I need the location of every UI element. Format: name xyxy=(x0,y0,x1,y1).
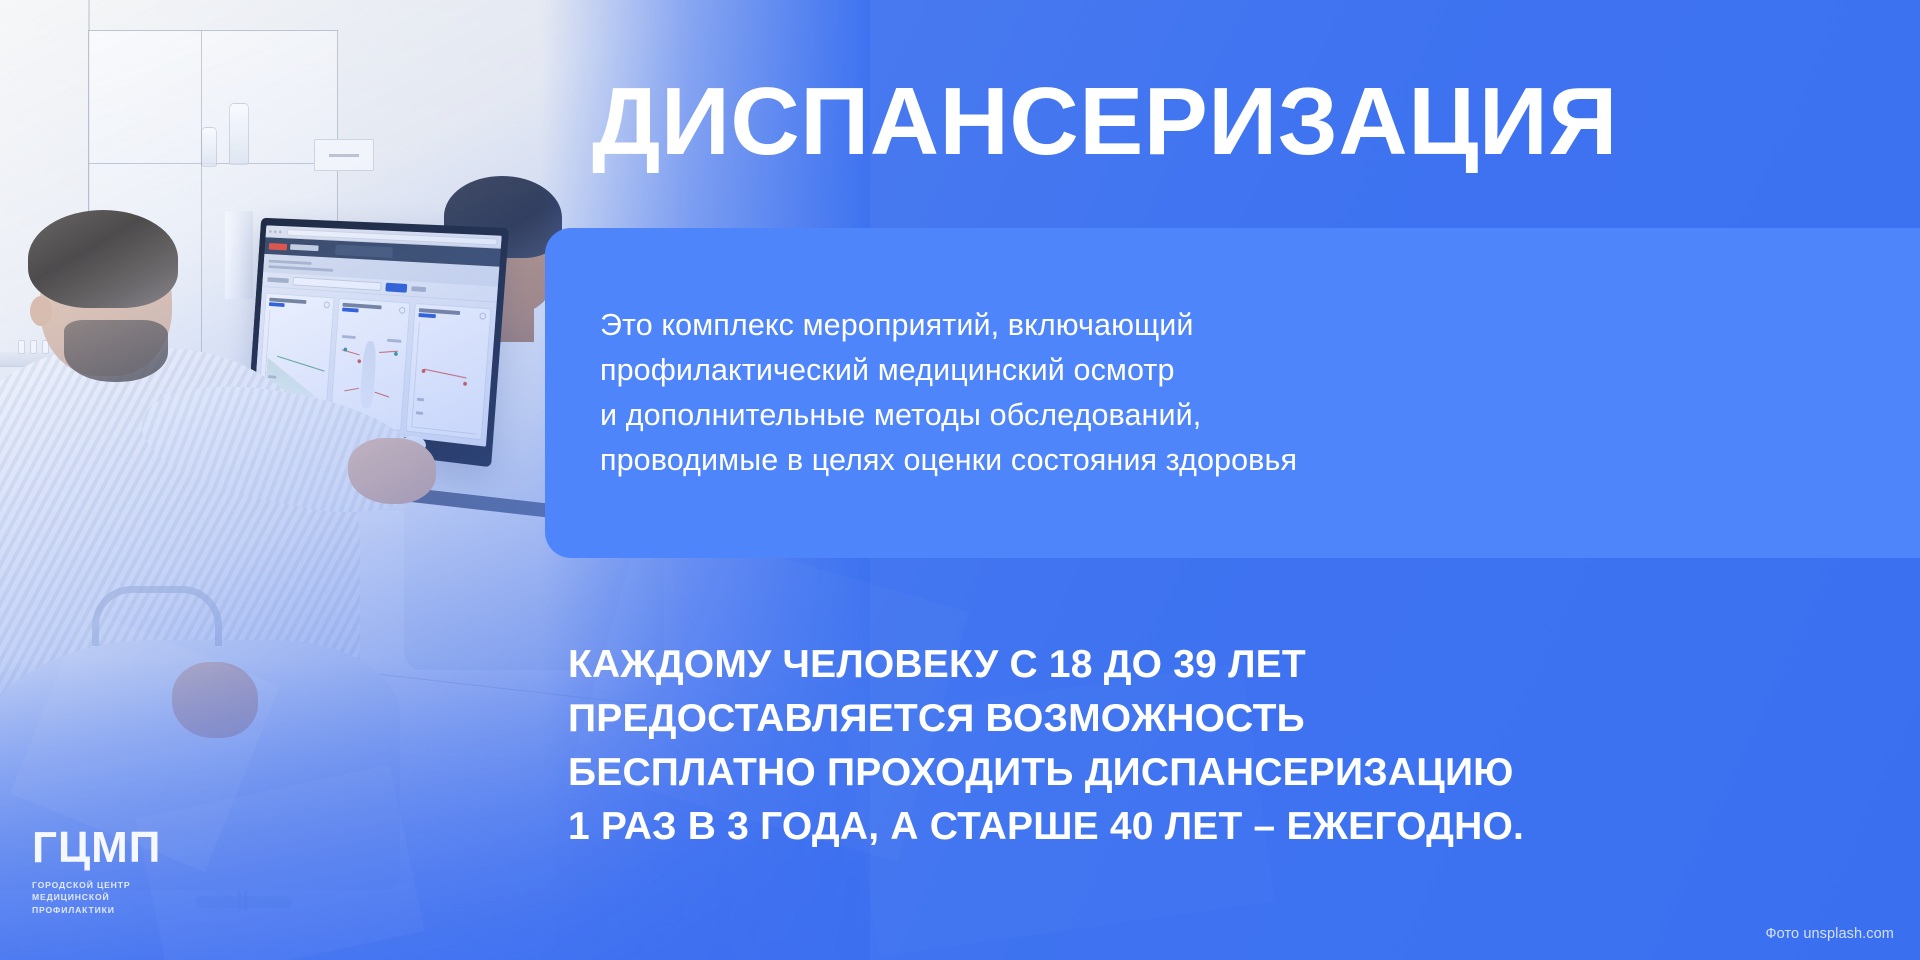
photo-credit: Фото unsplash.com xyxy=(1765,926,1894,942)
logo: ГЦМП ГОРОДСКОЙ ЦЕНТР МЕДИЦИНСКОЙ ПРОФИЛА… xyxy=(32,824,262,916)
info-panel-line: профилактический медицинский осмотр xyxy=(600,348,1920,393)
info-panel-line: и дополнительные методы обследований, xyxy=(600,393,1920,438)
info-panel-line: Это комплекс мероприятий, включающий xyxy=(600,303,1920,348)
info-panel: Это комплекс мероприятий, включающий про… xyxy=(545,228,1920,558)
logo-subtitle-line: ПРОФИЛАКТИКИ xyxy=(32,904,262,916)
info-panel-line: проводимые в целях оценки состояния здор… xyxy=(600,438,1920,483)
highlight-line: 1 РАЗ В 3 ГОДА, А СТАРШЕ 40 ЛЕТ – ЕЖЕГОД… xyxy=(568,800,1898,854)
highlight-block: КАЖДОМУ ЧЕЛОВЕКУ С 18 ДО 39 ЛЕТ ПРЕДОСТА… xyxy=(568,638,1898,854)
page-title: ДИСПАНСЕРИЗАЦИЯ xyxy=(592,72,1618,173)
logo-subtitle: ГОРОДСКОЙ ЦЕНТР МЕДИЦИНСКОЙ ПРОФИЛАКТИКИ xyxy=(32,879,262,916)
poster-root: ДИСПАНСЕРИЗАЦИЯ Это комплекс мероприятий… xyxy=(0,0,1920,960)
highlight-line: ПРЕДОСТАВЛЯЕТСЯ ВОЗМОЖНОСТЬ xyxy=(568,692,1898,746)
logo-subtitle-line: МЕДИЦИНСКОЙ xyxy=(32,891,262,903)
logo-subtitle-line: ГОРОДСКОЙ ЦЕНТР xyxy=(32,879,262,891)
highlight-line: БЕСПЛАТНО ПРОХОДИТЬ ДИСПАНСЕРИЗАЦИЮ xyxy=(568,746,1898,800)
logo-mark: ГЦМП xyxy=(32,824,262,872)
highlight-line: КАЖДОМУ ЧЕЛОВЕКУ С 18 ДО 39 ЛЕТ xyxy=(568,638,1898,692)
